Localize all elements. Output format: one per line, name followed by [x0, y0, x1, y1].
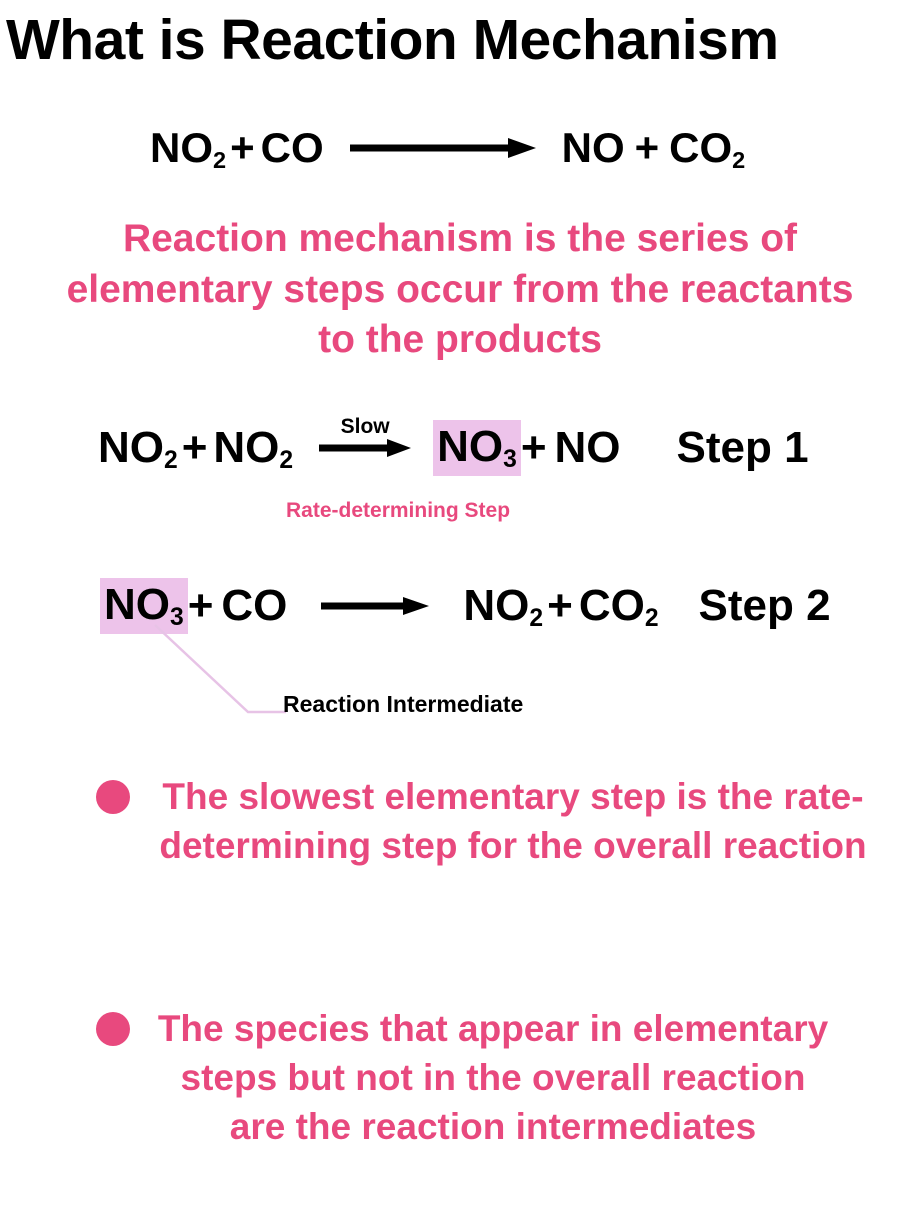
step-1-plus-right: +: [521, 423, 547, 473]
step-2-product-2-subscript: 2: [645, 605, 659, 632]
right-arrow-icon: [350, 136, 536, 160]
overall-reaction-equation: NO2 + CO NO + CO2: [150, 124, 745, 172]
step-1-reactant-1: NO2: [98, 423, 178, 473]
step-1-plus-left: +: [182, 423, 208, 473]
step-2-product-1-subscript: 2: [529, 605, 543, 632]
step-1-product-2: NO: [555, 423, 621, 473]
overall-reactant-1-subscript: 2: [213, 147, 226, 173]
bullet-circle-icon: [96, 1012, 130, 1046]
bullet-item-1-text: The slowest elementary step is the rate-…: [130, 772, 886, 870]
step-1-label: Step 1: [677, 423, 809, 473]
right-arrow-icon: [319, 437, 411, 459]
bullet-item-2-text: The species that appear in elementary st…: [130, 1004, 886, 1152]
overall-reactant-1-label: NO: [150, 124, 213, 171]
overall-plus-2: +: [635, 124, 660, 172]
step-2-reactant-1-label: NO: [104, 580, 170, 629]
overall-reaction-arrow-group: [350, 136, 536, 160]
reaction-intermediate-caption: Reaction Intermediate: [283, 691, 523, 718]
step-1-arrow-group: Slow: [319, 437, 411, 459]
step-2-reactant-2: CO: [221, 581, 287, 631]
overall-reactant-1: NO2: [150, 124, 226, 172]
bullet-item-1: The slowest elementary step is the rate-…: [96, 772, 886, 870]
step-2-reactant-1-highlight: NO3: [100, 578, 188, 634]
step-1-reactant-2: NO2: [213, 423, 293, 473]
step-2-plus-left: +: [188, 581, 214, 631]
step-1-reactant-2-subscript: 2: [279, 447, 293, 474]
overall-product-2-label: CO: [669, 124, 732, 171]
step-1-product-1: NO3: [437, 422, 517, 472]
step-2-plus-right: +: [547, 581, 573, 631]
right-arrow-icon: [321, 595, 429, 617]
step-2-product-2-label: CO: [579, 581, 645, 630]
step-1-product-1-subscript: 3: [503, 446, 517, 473]
step-2-arrow-group: [321, 595, 429, 617]
step-1-product-1-highlight: NO3: [433, 420, 521, 476]
mechanism-definition-text: Reaction mechanism is the series of elem…: [60, 214, 860, 366]
step-2-label: Step 2: [699, 581, 831, 631]
rate-determining-step-caption: Rate-determining Step: [286, 499, 510, 523]
step-1-reactant-2-label: NO: [213, 423, 279, 472]
overall-plus-1: +: [230, 124, 255, 172]
overall-product-2: CO2: [669, 124, 745, 172]
page-title: What is Reaction Mechanism: [6, 8, 918, 74]
step-1-product-1-label: NO: [437, 422, 503, 471]
step-1-reactant-1-label: NO: [98, 423, 164, 472]
step-1-reactant-1-subscript: 2: [164, 447, 178, 474]
step-2-reactant-1: NO3: [104, 580, 184, 630]
overall-reactant-2: CO: [261, 124, 324, 172]
step-2-product-2: CO2: [579, 581, 659, 631]
step-1-equation: NO2 + NO2 Slow NO3 + NO Step 1: [98, 420, 809, 476]
step-2-product-1: NO2: [463, 581, 543, 631]
slide-canvas: What is Reaction Mechanism NO2 + CO NO +…: [0, 0, 920, 1224]
step-2-equation: NO3 + CO NO2 + CO2 Step 2: [100, 578, 831, 634]
step-1-arrow-label: Slow: [341, 415, 390, 439]
overall-product-2-subscript: 2: [732, 147, 745, 173]
bullet-circle-icon: [96, 780, 130, 814]
step-2-product-1-label: NO: [463, 581, 529, 630]
overall-product-1: NO: [562, 124, 625, 172]
bullet-item-2: The species that appear in elementary st…: [96, 1004, 886, 1152]
step-2-reactant-1-subscript: 3: [170, 604, 184, 631]
